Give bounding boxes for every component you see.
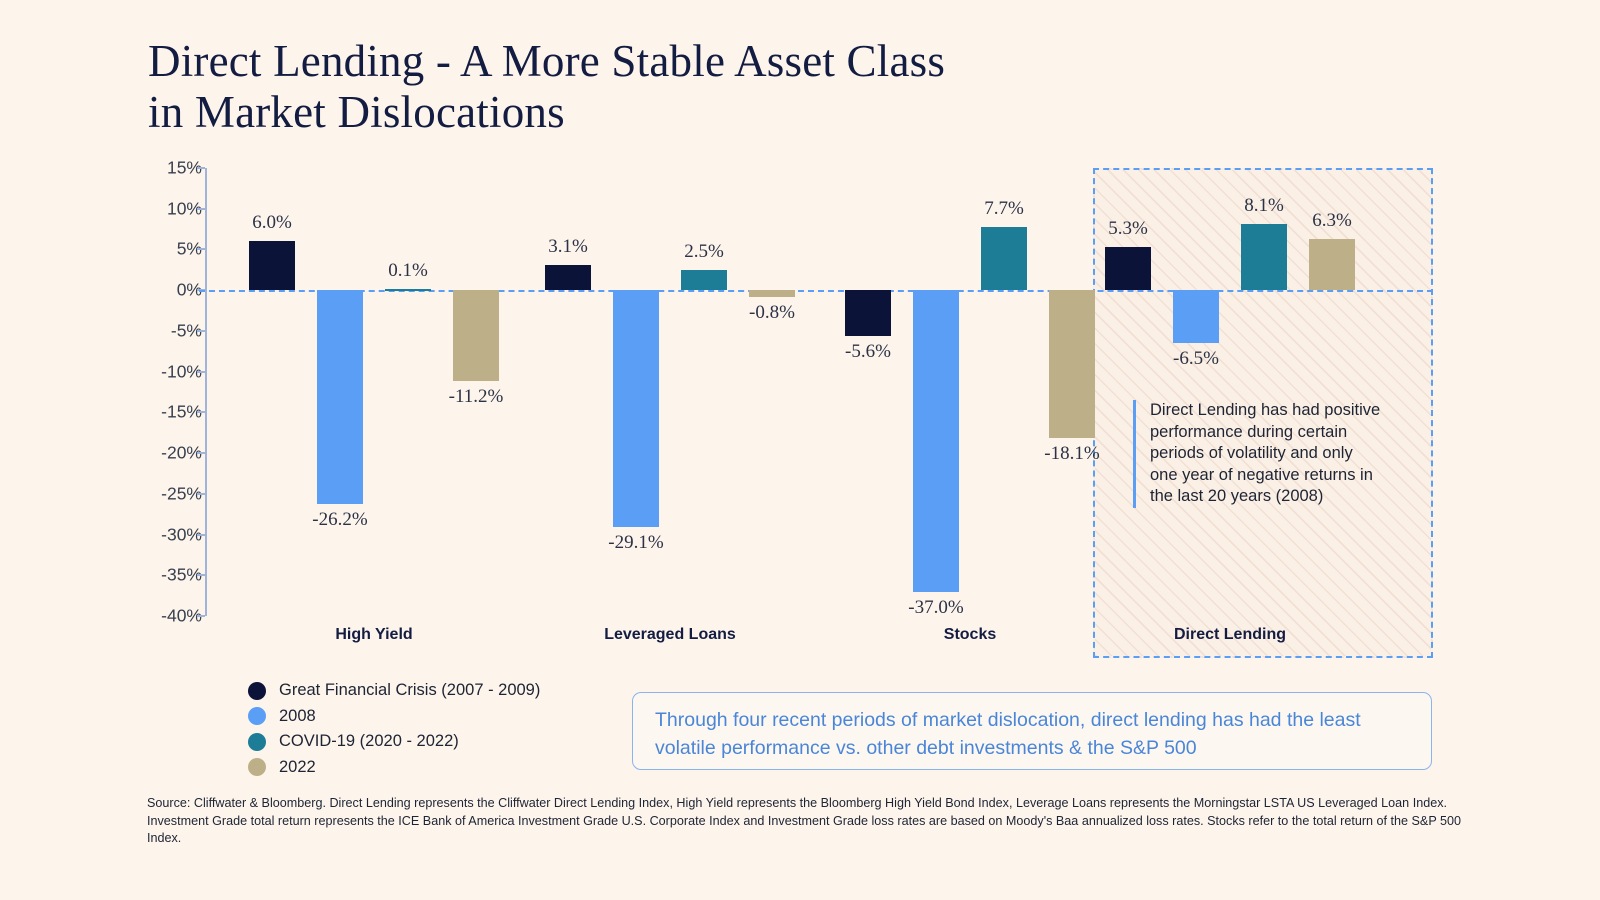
y-axis-tick [197, 534, 205, 536]
bar-value-label: -11.2% [421, 386, 531, 408]
chart-legend: Great Financial Crisis (2007 - 2009)2008… [248, 678, 540, 780]
y-axis-label: -40% [140, 606, 202, 627]
bar-group: 3.1%-29.1%2.5%-0.8%Leveraged Loans [545, 168, 795, 616]
bar-value-label: -37.0% [881, 597, 991, 619]
source-line-2: Investment Grade total return represents… [147, 813, 1477, 848]
plot-area: 6.0%-26.2%0.1%-11.2%High Yield3.1%-29.1%… [205, 168, 1433, 616]
y-axis-label: 0% [140, 280, 202, 301]
direct-lending-annotation: Direct Lending has had positive performa… [1133, 400, 1383, 508]
y-axis-label: -15% [140, 402, 202, 423]
source-footnote: Source: Cliffwater & Bloomberg. Direct L… [147, 795, 1477, 848]
legend-label: Great Financial Crisis (2007 - 2009) [279, 681, 540, 700]
legend-item[interactable]: 2008 [248, 704, 540, 730]
y-axis-label: -10% [140, 361, 202, 382]
y-axis-line [205, 168, 207, 616]
bar[interactable] [913, 290, 959, 591]
source-line-1: Source: Cliffwater & Bloomberg. Direct L… [147, 795, 1477, 813]
bar-value-label: -26.2% [285, 509, 395, 531]
bar-group: 6.0%-26.2%0.1%-11.2%High Yield [249, 168, 499, 616]
y-axis-tick [197, 371, 205, 373]
bar-value-label: 5.3% [1073, 218, 1183, 240]
legend-item[interactable]: Great Financial Crisis (2007 - 2009) [248, 678, 540, 704]
category-label: Leveraged Loans [550, 626, 790, 644]
bar-value-label: 7.7% [949, 198, 1059, 220]
y-axis-label: -5% [140, 320, 202, 341]
y-axis-tick [197, 411, 205, 413]
legend-swatch-icon [248, 733, 266, 751]
chart-page: Direct Lending - A More Stable Asset Cla… [0, 0, 1600, 900]
bar-value-label: 3.1% [513, 236, 623, 258]
y-axis-label: -25% [140, 483, 202, 504]
y-axis-tick [197, 615, 205, 617]
category-label: High Yield [254, 626, 494, 644]
bar[interactable] [1309, 239, 1355, 290]
y-axis-tick [197, 574, 205, 576]
bar[interactable] [613, 290, 659, 527]
legend-swatch-icon [248, 682, 266, 700]
bar[interactable] [317, 290, 363, 503]
bar-value-label: -0.8% [717, 302, 827, 324]
bar-value-label: 6.3% [1277, 210, 1387, 232]
bar[interactable] [249, 241, 295, 290]
bar[interactable] [385, 289, 431, 291]
category-label: Direct Lending [1110, 626, 1350, 644]
legend-item[interactable]: 2022 [248, 755, 540, 781]
y-axis-tick [197, 248, 205, 250]
summary-callout-text: Through four recent periods of market di… [655, 706, 1409, 762]
y-axis-labels: 15%10%5%0%-5%-10%-15%-20%-25%-30%-35%-40… [140, 168, 202, 616]
bar-value-label: -29.1% [581, 532, 691, 554]
y-axis-tick [197, 493, 205, 495]
legend-swatch-icon [248, 758, 266, 776]
y-axis-tick [197, 208, 205, 210]
bar-value-label: -5.6% [813, 341, 923, 363]
bar[interactable] [453, 290, 499, 381]
y-axis-label: -20% [140, 443, 202, 464]
bar[interactable] [545, 265, 591, 290]
y-axis-tick [197, 452, 205, 454]
bar[interactable] [981, 227, 1027, 290]
bar-value-label: 0.1% [353, 260, 463, 282]
bar[interactable] [1049, 290, 1095, 437]
y-axis-label: 5% [140, 239, 202, 260]
bar[interactable] [1173, 290, 1219, 343]
legend-label: 2022 [279, 758, 316, 777]
summary-callout-box: Through four recent periods of market di… [632, 692, 1432, 770]
y-axis-label: -35% [140, 565, 202, 586]
y-axis-tick [197, 330, 205, 332]
bar[interactable] [1105, 247, 1151, 290]
bar-group: 5.3%-6.5%8.1%6.3%Direct Lending [1105, 168, 1355, 616]
legend-item[interactable]: COVID-19 (2020 - 2022) [248, 729, 540, 755]
bar-value-label: 2.5% [649, 241, 759, 263]
bar[interactable] [681, 270, 727, 290]
legend-label: COVID-19 (2020 - 2022) [279, 732, 459, 751]
y-axis-label: -30% [140, 524, 202, 545]
bar-group: -5.6%-37.0%7.7%-18.1%Stocks [845, 168, 1095, 616]
y-axis-tick [197, 167, 205, 169]
category-label: Stocks [850, 626, 1090, 644]
page-title: Direct Lending - A More Stable Asset Cla… [148, 36, 1148, 138]
title-line-1: Direct Lending - A More Stable Asset Cla… [148, 36, 945, 86]
y-axis-label: 15% [140, 158, 202, 179]
title-line-2: in Market Dislocations [148, 87, 1148, 138]
bar[interactable] [845, 290, 891, 336]
bar[interactable] [1241, 224, 1287, 290]
y-axis-label: 10% [140, 198, 202, 219]
bar-value-label: 6.0% [217, 212, 327, 234]
bar[interactable] [749, 290, 795, 297]
legend-swatch-icon [248, 707, 266, 725]
legend-label: 2008 [279, 707, 316, 726]
bar-value-label: -6.5% [1141, 348, 1251, 370]
